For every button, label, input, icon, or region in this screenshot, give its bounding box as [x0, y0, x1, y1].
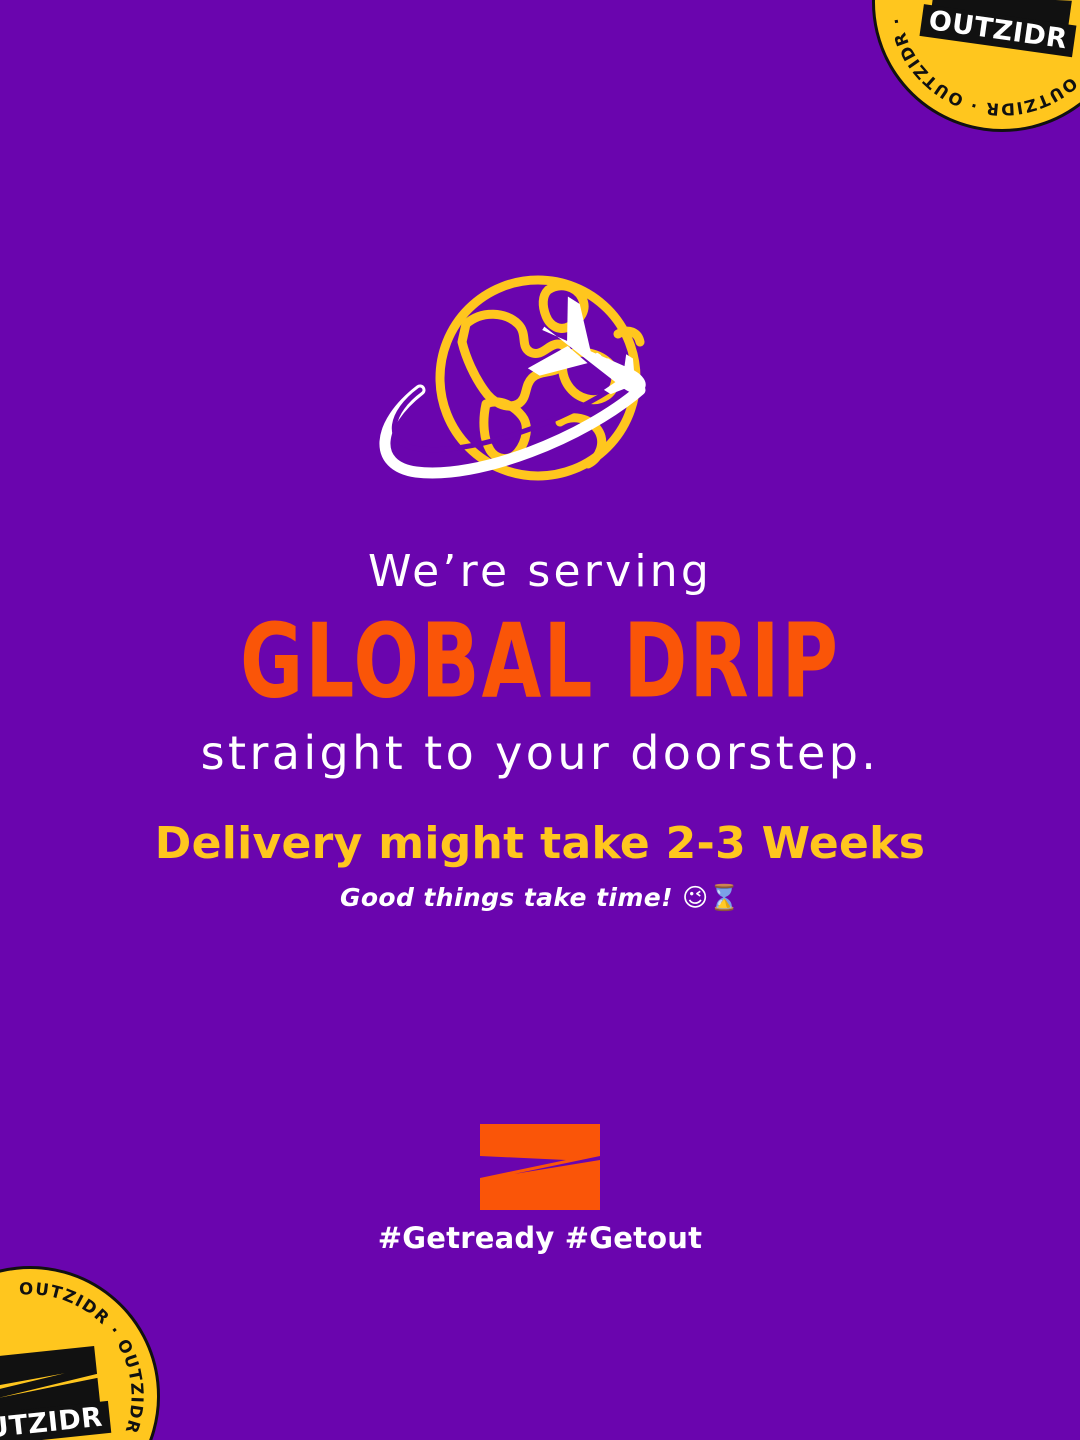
- badge-core-mark: OUTZIDR: [0, 1343, 109, 1440]
- headline-line-1: We’re serving: [0, 546, 1080, 598]
- outzidr-badge-bottom-left: OUTZIDR · OUTZIDR · OUTZIDR · OUTZIDR · …: [0, 1253, 173, 1440]
- hero-graphic: [0, 272, 1080, 504]
- footer-hashtags: #Getready #Getout: [378, 1224, 702, 1253]
- delivery-subtext: Good things take time! 😉⌛: [0, 884, 1080, 912]
- delivery-subtext-label: Good things take time!: [340, 883, 673, 912]
- poster-canvas: OUTZIDR · OUTZIDR · OUTZIDR · OUTZIDR · …: [0, 0, 1080, 1440]
- headline-line-3: straight to your doorstep.: [0, 726, 1080, 780]
- headline-line-2: GLOBAL DRIP: [0, 604, 1080, 719]
- outzidr-badge-top-right: OUTZIDR · OUTZIDR · OUTZIDR · OUTZIDR · …: [855, 0, 1080, 149]
- z-logo-icon: [478, 1122, 602, 1212]
- wink-hourglass-emoji: 😉⌛: [682, 883, 740, 912]
- headline-block: We’re serving GLOBAL DRIP straight to yo…: [0, 546, 1080, 780]
- delivery-block: Delivery might take 2-3 Weeks Good thing…: [0, 820, 1080, 912]
- footer-block: #Getready #Getout: [0, 1122, 1080, 1253]
- globe-with-airplane-icon: [370, 272, 710, 504]
- delivery-headline: Delivery might take 2-3 Weeks: [0, 820, 1080, 868]
